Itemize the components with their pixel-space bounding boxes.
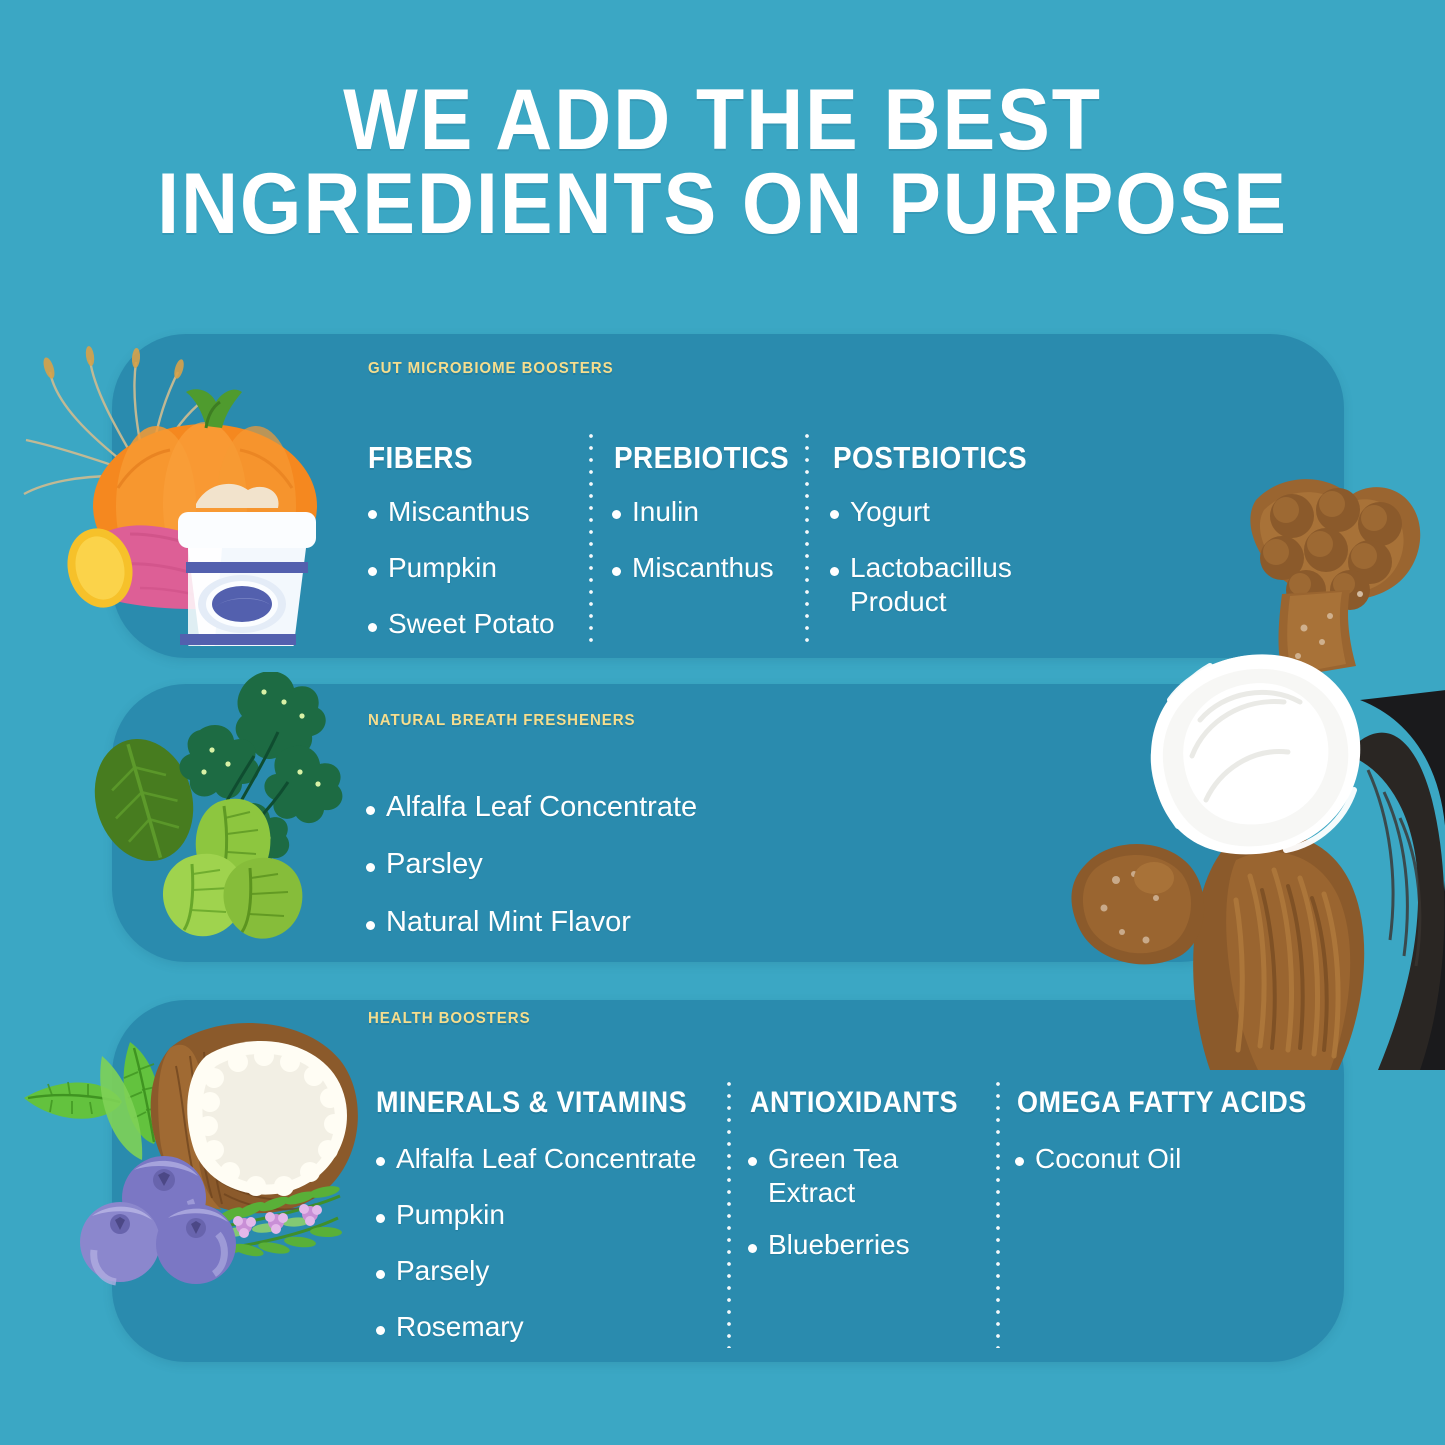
list-item: Sweet Potato xyxy=(368,607,578,641)
column-title-postbiotics: POSTBIOTICS xyxy=(833,440,1027,476)
bullet-dot xyxy=(612,567,621,576)
card-health-heading: HEALTH BOOSTERS xyxy=(368,1010,531,1028)
divider-health-2 xyxy=(996,1078,1000,1348)
list-item: Alfalfa Leaf Concentrate xyxy=(376,1142,706,1176)
divider-gut-1 xyxy=(589,430,593,642)
list-fibers: Miscanthus Pumpkin Sweet Potato xyxy=(368,495,578,641)
bullet-dot xyxy=(376,1214,385,1223)
column-title-fibers: FIBERS xyxy=(368,440,473,476)
list-item: Alfalfa Leaf Concentrate xyxy=(366,790,826,825)
bullet-dot xyxy=(368,623,377,632)
bullet-dot xyxy=(366,863,375,872)
bullet-dot xyxy=(748,1244,757,1253)
list-item: Parsley xyxy=(366,847,826,882)
bullet-dot xyxy=(366,921,375,930)
list-antioxidants: Green Tea Extract Blueberries xyxy=(748,1142,923,1262)
card-gut-heading: GUT MICROBIOME BOOSTERS xyxy=(368,360,614,378)
bullet-dot xyxy=(376,1326,385,1335)
title-line-1: WE ADD THE BEST xyxy=(58,78,1387,162)
list-prebiotics: Inulin Miscanthus xyxy=(612,495,797,585)
column-title-antioxidants: ANTIOXIDANTS xyxy=(750,1086,958,1120)
list-postbiotics: Yogurt Lactobacillus Product xyxy=(830,495,1060,619)
list-item: Coconut Oil xyxy=(1015,1142,1265,1176)
divider-gut-2 xyxy=(805,430,809,642)
bullet-dot xyxy=(830,567,839,576)
list-item: Green Tea Extract xyxy=(748,1142,923,1210)
column-title-prebiotics: PREBIOTICS xyxy=(614,440,789,476)
list-item: Pumpkin xyxy=(376,1198,706,1232)
list-item: Rosemary xyxy=(376,1310,706,1344)
card-breath-heading: NATURAL BREATH FRESHENERS xyxy=(368,712,635,730)
list-breath: Alfalfa Leaf Concentrate Parsley Natural… xyxy=(366,790,826,940)
bullet-dot xyxy=(376,1157,385,1166)
column-title-minerals-vitamins: MINERALS & VITAMINS xyxy=(376,1086,687,1120)
list-item: Pumpkin xyxy=(368,551,578,585)
list-item: Blueberries xyxy=(748,1228,923,1262)
list-omega-fatty-acids: Coconut Oil xyxy=(1015,1142,1265,1176)
bullet-dot xyxy=(830,510,839,519)
bullet-dot xyxy=(748,1157,757,1166)
infographic-canvas: WE ADD THE BEST INGREDIENTS ON PURPOSE G… xyxy=(0,0,1445,1445)
bullet-dot xyxy=(376,1270,385,1279)
list-item: Lactobacillus Product xyxy=(830,551,1060,619)
list-item: Parsely xyxy=(376,1254,706,1288)
list-item: Miscanthus xyxy=(368,495,578,529)
title-line-2: INGREDIENTS ON PURPOSE xyxy=(58,162,1387,246)
list-item: Natural Mint Flavor xyxy=(366,905,826,940)
bullet-dot xyxy=(1015,1157,1024,1166)
list-minerals-vitamins: Alfalfa Leaf Concentrate Pumpkin Parsely… xyxy=(376,1142,706,1345)
column-title-omega-fatty-acids: OMEGA FATTY ACIDS xyxy=(1017,1086,1307,1120)
bullet-dot xyxy=(368,510,377,519)
bullet-dot xyxy=(368,567,377,576)
bullet-dot xyxy=(612,510,621,519)
list-item: Inulin xyxy=(612,495,797,529)
bullet-dot xyxy=(366,806,375,815)
list-item: Miscanthus xyxy=(612,551,797,585)
divider-health-1 xyxy=(727,1078,731,1348)
page-title: WE ADD THE BEST INGREDIENTS ON PURPOSE xyxy=(0,78,1445,247)
list-item: Yogurt xyxy=(830,495,1060,529)
